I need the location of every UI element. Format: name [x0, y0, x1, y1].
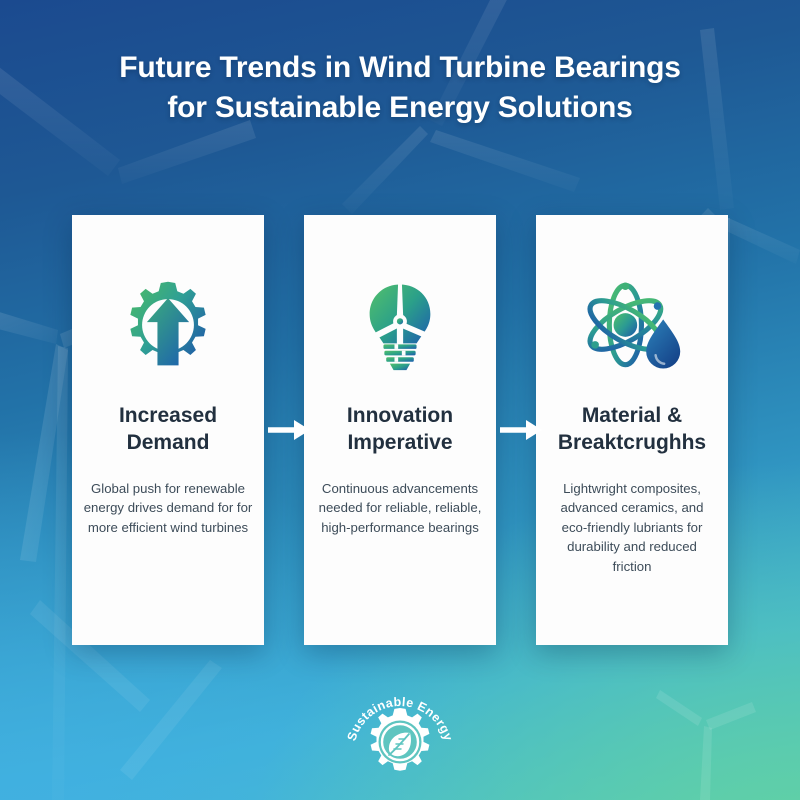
card-innovation-imperative[interactable]: Innovation Imperative Continuous advance… — [304, 215, 496, 645]
arrow-card1-to-card2 — [268, 420, 310, 440]
infographic-canvas: Future Trends in Wind Turbine Bearings f… — [0, 0, 800, 800]
title-line-1: Future Trends in Wind Turbine Bearings — [119, 51, 681, 84]
card-heading: Material & Breaktcrughhs — [536, 403, 728, 457]
cards-row: Increased Demand Global push for renewab… — [72, 215, 728, 645]
lightbulb-wind-turbine-icon — [348, 277, 452, 373]
bg-turbine-bottom-right — [656, 690, 756, 800]
card3-heading-line2: Breaktcrughhs — [558, 431, 706, 454]
card-material-breakthroughs[interactable]: Material & Breaktcrughhs Lightwright com… — [536, 215, 728, 645]
title-line-2: for Sustainable Energy Solutions — [167, 91, 632, 124]
sustainable-energy-badge: Sustainable Energy — [342, 678, 458, 782]
card2-heading-line2: Imperative — [347, 431, 452, 454]
card3-body: Lightwright composites, advanced ceramic… — [536, 479, 728, 577]
card1-body: Global push for renewable energy drives … — [72, 479, 264, 538]
page-title: Future Trends in Wind Turbine Bearings f… — [0, 48, 800, 128]
gear-up-arrow-icon — [116, 277, 220, 373]
gear-leaf-icon — [371, 708, 430, 771]
atom-droplet-icon — [580, 277, 684, 373]
card2-heading-line1: Innovation — [347, 404, 453, 427]
card2-body: Continuous advancements needed for relia… — [304, 479, 496, 538]
arrow-card2-to-card3 — [500, 420, 542, 440]
card-heading: Increased Demand — [72, 403, 264, 457]
card-heading: Innovation Imperative — [304, 403, 496, 457]
card1-heading-line1: Increased — [119, 404, 217, 427]
card-increased-demand[interactable]: Increased Demand Global push for renewab… — [72, 215, 264, 645]
card3-heading-line1: Material & — [582, 404, 682, 427]
card1-heading-line2: Demand — [127, 431, 210, 454]
